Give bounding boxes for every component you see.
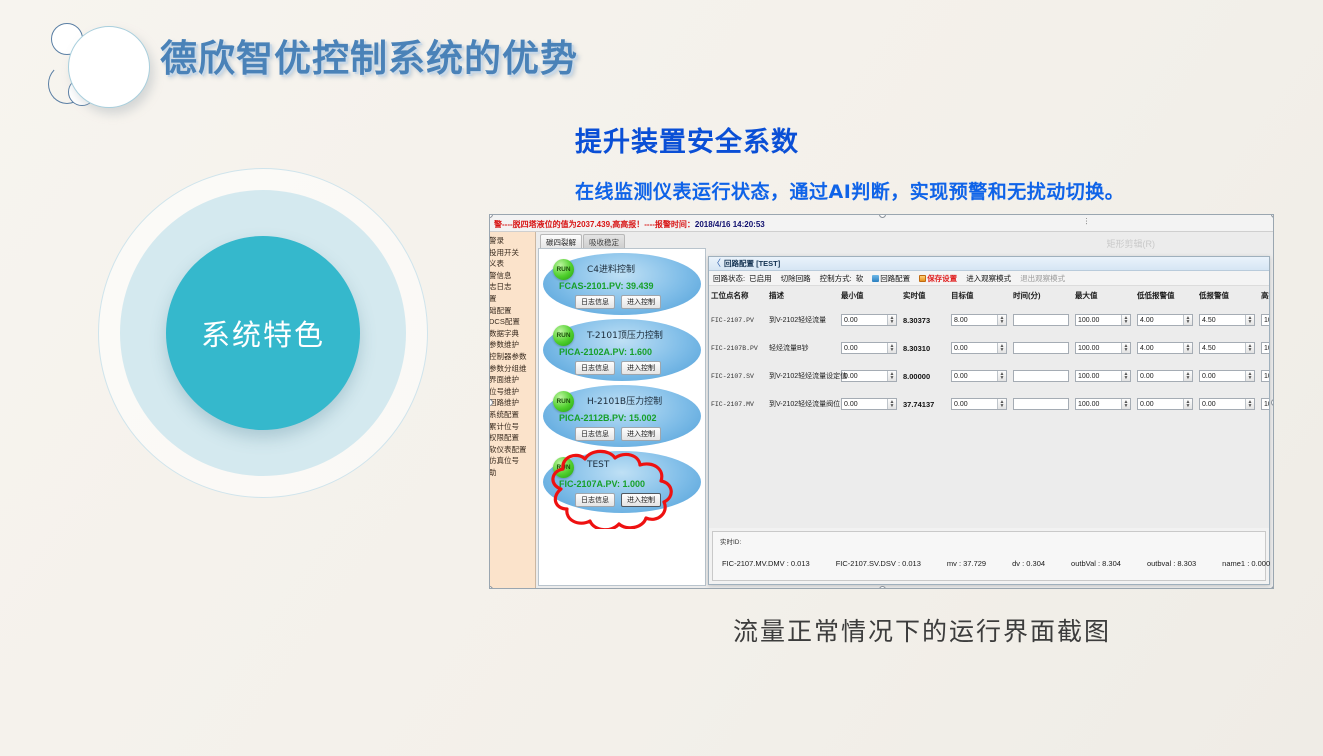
max-spinner[interactable]: 100.00▲▼	[1075, 314, 1131, 326]
ll-alarm-spinner[interactable]: 4.00▲▼	[1137, 342, 1193, 354]
column-header-2: 最小值	[839, 286, 901, 306]
loop-run-indicator: RUN	[553, 457, 574, 478]
sidebar-item-8[interactable]: 数据字典	[490, 328, 535, 340]
cell-realtime: 37.74137	[901, 390, 949, 418]
column-header-0: 工位点名称	[709, 286, 767, 306]
status-id-label: 实时ID:	[713, 532, 1265, 546]
spinner-arrows-icon[interactable]: ▲▼	[1245, 371, 1254, 381]
max-spinner[interactable]: 100.00▲▼	[1075, 342, 1131, 354]
loop-enter-button[interactable]: 进入控制	[621, 295, 661, 309]
column-header-1: 描述	[767, 286, 839, 306]
cell-h-alarm: 100.00▲▼	[1259, 334, 1269, 362]
min-spinner[interactable]: 0.00▲▼	[841, 342, 897, 354]
tab-0[interactable]: 碳四裂解	[540, 234, 582, 248]
time-input[interactable]	[1013, 342, 1069, 354]
time-input[interactable]	[1013, 370, 1069, 382]
loop-title: C4进料控制	[587, 262, 635, 275]
status-values-row: FIC-2107.MV.DMV : 0.013FIC-2107.SV.DSV :…	[713, 546, 1265, 568]
loop-pv-value: FCAS-2101.PV: 39.439	[559, 281, 654, 291]
spinner-arrows-icon[interactable]: ▲▼	[1183, 343, 1192, 353]
l-alarm-spinner[interactable]: 0.00▲▼	[1199, 370, 1255, 382]
column-header-6: 最大值	[1073, 286, 1135, 306]
dialog-toolbar[interactable]: 回路状态: 已启用 切除回路 控制方式: 软 回路配置 保存设置 进入观察模式 …	[709, 271, 1269, 286]
column-header-4: 目标值	[949, 286, 1011, 306]
crop-tool-watermark: 矩形剪辑(R)	[1107, 237, 1156, 250]
cell-ll-alarm: 4.00▲▼	[1135, 306, 1197, 334]
config-table-header: 工位点名称描述最小值实时值目标值时间(分)最大值低低报警值低报警值高报警值高高报…	[709, 286, 1269, 306]
loop-list-panel[interactable]: RUNC4进料控制FCAS-2101.PV: 39.439日志信息进入控制RUN…	[538, 248, 706, 586]
sidebar-item-2[interactable]: 义表	[490, 258, 535, 270]
sidebar-item-0[interactable]: 警录	[490, 235, 535, 247]
cell-target: 0.00▲▼	[949, 362, 1011, 390]
dialog-status-bar: 实时ID: FIC-2107.MV.DMV : 0.013FIC-2107.SV…	[712, 531, 1266, 581]
cell-realtime: 8.30373	[901, 306, 949, 334]
headline-sub: 在线监测仪表运行状态，通过AI判断，实现预警和无扰动切换。	[575, 177, 1124, 204]
cell-time	[1011, 306, 1073, 334]
cell-max: 100.00▲▼	[1073, 390, 1135, 418]
sidebar-item-13[interactable]: 位号维护	[490, 386, 535, 398]
target-spinner[interactable]: 0.00▲▼	[951, 398, 1007, 410]
exit-watch-mode-button: 退出观察模式	[1020, 273, 1065, 284]
cell-time	[1011, 334, 1073, 362]
control-mode-value: 软	[856, 273, 864, 284]
spinner-arrows-icon[interactable]: ▲▼	[887, 399, 896, 409]
save-disk-icon	[919, 275, 926, 282]
h-alarm-spinner[interactable]: 100.00▲▼	[1261, 398, 1269, 410]
spinner-arrows-icon[interactable]: ▲▼	[1245, 399, 1254, 409]
table-row: FIC-2107.PV到V-2102轻烃流量0.00▲▼8.303738.00▲…	[709, 306, 1269, 334]
loop-config-label: 回路配置	[880, 274, 910, 283]
config-table: 工位点名称描述最小值实时值目标值时间(分)最大值低低报警值低报警值高报警值高高报…	[709, 286, 1269, 418]
h-alarm-spinner[interactable]: 100.00▲▼	[1261, 370, 1269, 382]
loop-enter-button[interactable]: 进入控制	[621, 361, 661, 375]
spinner-arrows-icon[interactable]: ▲▼	[1121, 343, 1130, 353]
sidebar-item-9[interactable]: 参数维护	[490, 339, 535, 351]
image-caption: 流量正常情况下的运行界面截图	[733, 612, 1111, 648]
cell-desc: 到V-2102轻烃流量	[767, 306, 839, 334]
status-value-2: mv : 37.729	[947, 559, 986, 568]
loop-pv-value: PICA-2112B.PV: 15.002	[559, 413, 657, 423]
spinner-arrows-icon[interactable]: ▲▼	[887, 315, 896, 325]
tab-1[interactable]: 吸收稳定	[583, 234, 625, 248]
cell-l-alarm: 0.00▲▼	[1197, 390, 1259, 418]
table-row: FIC-2107.SV到V-2102轻烃流量设定值0.00▲▼8.000000.…	[709, 362, 1269, 390]
headline-block: 提升装置安全系数 在线监测仪表运行状态，通过AI判断，实现预警和无扰动切换。	[575, 120, 1124, 204]
spinner-arrows-icon[interactable]: ▲▼	[1121, 371, 1130, 381]
spinner-arrows-icon[interactable]: ▲▼	[997, 399, 1006, 409]
sidebar-item-16[interactable]: 累计位号	[490, 421, 535, 433]
spinner-arrows-icon[interactable]: ▲▼	[997, 315, 1006, 325]
spinner-arrows-icon[interactable]: ▲▼	[1183, 399, 1192, 409]
sidebar-item-3[interactable]: 警信息	[490, 270, 535, 282]
loop-buttons: 日志信息进入控制	[575, 427, 661, 441]
loop-run-indicator: RUN	[553, 391, 574, 412]
sidebar-item-17[interactable]: 权限配置	[490, 432, 535, 444]
target-spinner[interactable]: 0.00▲▼	[951, 342, 1007, 354]
decoration-circle-large	[68, 26, 150, 108]
spinner-arrows-icon[interactable]: ▲▼	[997, 371, 1006, 381]
headline-main: 提升装置安全系数	[575, 120, 1124, 159]
loop-card-2[interactable]: RUNH-2101B压力控制PICA-2112B.PV: 15.002日志信息进…	[543, 385, 701, 447]
loop-card-0[interactable]: RUNC4进料控制FCAS-2101.PV: 39.439日志信息进入控制	[543, 253, 701, 315]
loop-title: T-2101顶压力控制	[587, 328, 663, 341]
cell-realtime: 8.00000	[901, 362, 949, 390]
enter-watch-mode-button[interactable]: 进入观察模式	[966, 273, 1011, 284]
save-settings-label: 保存设置	[927, 274, 957, 283]
dialog-title: 回路配置 [TEST]	[724, 258, 780, 269]
selection-handle-mr[interactable]	[1271, 399, 1274, 406]
target-spinner[interactable]: 0.00▲▼	[951, 370, 1007, 382]
spinner-arrows-icon[interactable]: ▲▼	[887, 371, 896, 381]
cell-h-alarm: 100.00▲▼	[1259, 362, 1269, 390]
embedded-app-screenshot: 警----脱四塔液位的值为2037.439,高高报！----报警时间：2018/…	[489, 214, 1274, 589]
loop-card-3[interactable]: RUNTESTFIC-2107A.PV: 1.000日志信息进入控制	[543, 451, 701, 513]
cell-target: 8.00▲▼	[949, 306, 1011, 334]
sidebar-item-20[interactable]: 助	[490, 467, 535, 479]
feature-core-label: 系统特色	[201, 312, 325, 354]
column-header-3: 实时值	[901, 286, 949, 306]
page-title: 德欣智优控制系统的优势	[160, 28, 578, 82]
sidebar-item-10[interactable]: 控制器参数	[490, 351, 535, 363]
sidebar-item-19[interactable]: 仿真位号	[490, 455, 535, 467]
cell-tag: FIC-2107.MV	[709, 390, 767, 418]
cell-l-alarm: 0.00▲▼	[1197, 362, 1259, 390]
spinner-arrows-icon[interactable]: ▲▼	[887, 343, 896, 353]
link-icon	[872, 275, 879, 282]
max-spinner[interactable]: 100.00▲▼	[1075, 370, 1131, 382]
feature-circle-graphic: 系统特色	[98, 168, 428, 498]
ll-alarm-spinner[interactable]: 4.00▲▼	[1137, 314, 1193, 326]
table-row: FIC-2107B.PV轻烃流量B钞0.00▲▼8.303100.00▲▼100…	[709, 334, 1269, 362]
cell-h-alarm: 100.00▲▼	[1259, 306, 1269, 334]
max-spinner[interactable]: 100.00▲▼	[1075, 398, 1131, 410]
loop-buttons: 日志信息进入控制	[575, 493, 661, 507]
loop-card-1[interactable]: RUNT-2101顶压力控制PICA-2102A.PV: 1.600日志信息进入…	[543, 319, 701, 381]
cell-tag: FIC-2107.SV	[709, 362, 767, 390]
sidebar-item-15[interactable]: 系统配置	[490, 409, 535, 421]
status-value-6: name1 : 0.000	[1222, 559, 1270, 568]
cell-ll-alarm: 4.00▲▼	[1135, 334, 1197, 362]
min-spinner[interactable]: 0.00▲▼	[841, 370, 897, 382]
loop-buttons: 日志信息进入控制	[575, 361, 661, 375]
loop-run-indicator: RUN	[553, 259, 574, 280]
feature-core-circle: 系统特色	[166, 236, 360, 430]
sidebar-item-14[interactable]: 回路维护	[490, 397, 535, 409]
sidebar-item-5[interactable]: 置	[490, 293, 535, 305]
spinner-arrows-icon[interactable]: ▲▼	[1245, 315, 1254, 325]
loop-enter-button[interactable]: 进入控制	[621, 427, 661, 441]
cell-min: 0.00▲▼	[839, 362, 901, 390]
ll-alarm-spinner[interactable]: 0.00▲▼	[1137, 370, 1193, 382]
loop-title: H-2101B压力控制	[587, 394, 662, 407]
time-input[interactable]	[1013, 398, 1069, 410]
sidebar-item-11[interactable]: 参数分组维	[490, 363, 535, 375]
loop-log-button[interactable]: 日志信息	[575, 295, 615, 309]
sidebar-item-12[interactable]: 界面维护	[490, 374, 535, 386]
sidebar-item-1[interactable]: 投用开关	[490, 247, 535, 259]
cell-desc: 轻烃流量B钞	[767, 334, 839, 362]
more-options-icon[interactable]: ⋯	[1084, 217, 1088, 225]
cell-ll-alarm: 0.00▲▼	[1135, 362, 1197, 390]
column-header-8: 低报警值	[1197, 286, 1259, 306]
status-value-4: outbVal : 8.304	[1071, 559, 1121, 568]
app-sidebar[interactable]: 警录投用开关义表警信息志日志置础配置DCS配置数据字典参数维护控制器参数参数分组…	[490, 232, 536, 588]
config-table-wrapper: 工位点名称描述最小值实时值目标值时间(分)最大值低低报警值低报警值高报警值高高报…	[709, 286, 1269, 528]
loop-log-button[interactable]: 日志信息	[575, 493, 615, 507]
l-alarm-spinner[interactable]: 4.50▲▼	[1199, 342, 1255, 354]
time-input[interactable]	[1013, 314, 1069, 326]
ll-alarm-spinner[interactable]: 0.00▲▼	[1137, 398, 1193, 410]
spinner-arrows-icon[interactable]: ▲▼	[997, 343, 1006, 353]
selection-handle-bc[interactable]	[879, 586, 886, 589]
title-decoration	[48, 16, 168, 116]
config-table-body: FIC-2107.PV到V-2102轻烃流量0.00▲▼8.303738.00▲…	[709, 306, 1269, 418]
cell-tag: FIC-2107B.PV	[709, 334, 767, 362]
l-alarm-spinner[interactable]: 4.50▲▼	[1199, 314, 1255, 326]
selection-handle-br[interactable]	[1271, 586, 1274, 589]
loop-run-indicator: RUN	[553, 325, 574, 346]
loop-buttons: 日志信息进入控制	[575, 295, 661, 309]
min-spinner[interactable]: 0.00▲▼	[841, 314, 897, 326]
cell-target: 0.00▲▼	[949, 390, 1011, 418]
loop-cards-container: RUNC4进料控制FCAS-2101.PV: 39.439日志信息进入控制RUN…	[539, 253, 705, 513]
h-alarm-spinner[interactable]: 100.00▲▼	[1261, 342, 1269, 354]
loop-enter-button[interactable]: 进入控制	[621, 493, 661, 507]
loop-title: TEST	[587, 460, 609, 470]
table-row: FIC-2107.MV到V-2102轻烃流量阀位0.00▲▼37.741370.…	[709, 390, 1269, 418]
column-header-7: 低低报警值	[1135, 286, 1197, 306]
spinner-arrows-icon[interactable]: ▲▼	[1245, 343, 1254, 353]
cell-min: 0.00▲▼	[839, 306, 901, 334]
sidebar-item-4[interactable]: 志日志	[490, 281, 535, 293]
cell-desc: 到V-2102轻烃流量设定值	[767, 362, 839, 390]
loop-state-value: 已启用	[749, 273, 772, 284]
spinner-arrows-icon[interactable]: ▲▼	[1121, 399, 1130, 409]
app-main-area: 碳四裂解吸收稳定 RUNC4进料控制FCAS-2101.PV: 39.439日志…	[536, 232, 1273, 588]
sidebar-item-18[interactable]: 软仪表配置	[490, 444, 535, 456]
loop-pv-value: PICA-2102A.PV: 1.600	[559, 347, 652, 357]
target-spinner[interactable]: 8.00▲▼	[951, 314, 1007, 326]
cell-realtime: 8.30310	[901, 334, 949, 362]
cell-max: 100.00▲▼	[1073, 362, 1135, 390]
l-alarm-spinner[interactable]: 0.00▲▼	[1199, 398, 1255, 410]
status-value-1: FIC-2107.SV.DSV : 0.013	[836, 559, 921, 568]
status-value-3: dv : 0.304	[1012, 559, 1045, 568]
column-header-9: 高报警值	[1259, 286, 1269, 306]
cell-time	[1011, 362, 1073, 390]
loop-log-button[interactable]: 日志信息	[575, 361, 615, 375]
sidebar-item-6[interactable]: 础配置	[490, 305, 535, 317]
app-tabstrip[interactable]: 碳四裂解吸收稳定	[540, 234, 625, 248]
cell-min: 0.00▲▼	[839, 390, 901, 418]
spinner-arrows-icon[interactable]: ▲▼	[1183, 371, 1192, 381]
loop-pv-value: FIC-2107A.PV: 1.000	[559, 479, 645, 489]
status-value-5: outbval : 8.303	[1147, 559, 1196, 568]
save-settings-button[interactable]: 保存设置	[919, 273, 957, 284]
spinner-arrows-icon[interactable]: ▲▼	[1121, 315, 1130, 325]
spinner-arrows-icon[interactable]: ▲▼	[1183, 315, 1192, 325]
loop-log-button[interactable]: 日志信息	[575, 427, 615, 441]
cell-min: 0.00▲▼	[839, 334, 901, 362]
cell-time	[1011, 390, 1073, 418]
cell-max: 100.00▲▼	[1073, 306, 1135, 334]
cell-l-alarm: 4.50▲▼	[1197, 334, 1259, 362]
cell-tag: FIC-2107.PV	[709, 306, 767, 334]
loop-config-button[interactable]: 回路配置	[872, 273, 910, 284]
column-header-5: 时间(分)	[1011, 286, 1073, 306]
loop-config-dialog: 〈 回路配置 [TEST] 回路状态: 已启用 切除回路 控制方式: 软 回路配…	[708, 256, 1270, 585]
alarm-timestamp: 2018/4/16 14:20:53	[695, 220, 765, 229]
h-alarm-spinner[interactable]: 100.00▲▼	[1261, 314, 1269, 326]
dialog-titlebar: 〈 回路配置 [TEST]	[709, 257, 1269, 271]
alarm-message: 警----脱四塔液位的值为2037.439,高高报！----报警时间：	[494, 220, 695, 229]
control-mode-label: 控制方式:	[820, 273, 852, 284]
cell-l-alarm: 4.50▲▼	[1197, 306, 1259, 334]
cell-max: 100.00▲▼	[1073, 334, 1135, 362]
sidebar-item-7[interactable]: DCS配置	[490, 316, 535, 328]
cut-loop-button[interactable]: 切除回路	[781, 273, 811, 284]
cell-ll-alarm: 0.00▲▼	[1135, 390, 1197, 418]
cell-desc: 到V-2102轻烃流量阀位	[767, 390, 839, 418]
back-chevron-icon[interactable]: 〈	[712, 259, 721, 268]
min-spinner[interactable]: 0.00▲▼	[841, 398, 897, 410]
loop-state-label: 回路状态:	[713, 273, 745, 284]
cell-target: 0.00▲▼	[949, 334, 1011, 362]
status-value-0: FIC-2107.MV.DMV : 0.013	[722, 559, 810, 568]
cell-h-alarm: 100.00▲▼	[1259, 390, 1269, 418]
